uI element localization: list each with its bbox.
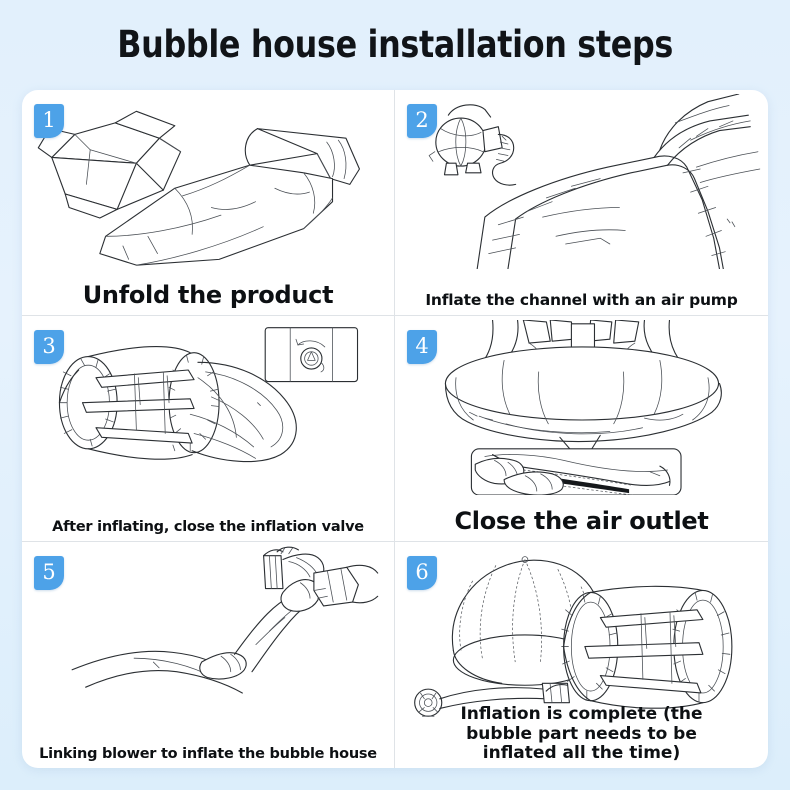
step-cell-4: 4 xyxy=(395,316,768,542)
step-caption-4: Close the air outlet xyxy=(401,508,762,535)
step-cell-1: 1 xyxy=(22,90,395,316)
blower-sleeve-and-hand-icon xyxy=(72,547,378,693)
steps-card: 1 xyxy=(22,90,768,768)
step-number-1: 1 xyxy=(42,110,55,133)
step-illustration-2 xyxy=(395,94,768,269)
steps-grid: 1 xyxy=(22,90,768,768)
step-cell-6: 6 xyxy=(395,542,768,768)
step-badge-6: 6 xyxy=(407,556,437,590)
step-caption-2: Inflate the channel with an air pump xyxy=(401,292,762,309)
step-badge-2: 2 xyxy=(407,104,437,138)
title-bar: Bubble house installation steps xyxy=(0,0,790,88)
step-caption-6-line-1: Inflation is complete (the xyxy=(401,705,762,725)
step-caption-3: After inflating, close the inflation val… xyxy=(28,519,388,535)
step-caption-5: Linking blower to inflate the bubble hou… xyxy=(28,746,388,762)
step-illustration-1 xyxy=(22,94,394,269)
step-badge-5: 5 xyxy=(34,556,64,590)
tunnel-frame-icon xyxy=(562,586,732,708)
inflatable-channel-icon xyxy=(477,94,760,269)
step-number-2: 2 xyxy=(415,110,428,133)
step-caption-1: Unfold the product xyxy=(28,282,388,309)
step-caption-6: Inflation is complete (the bubble part n… xyxy=(401,705,762,764)
step-cell-2: 2 xyxy=(395,90,768,316)
step-cell-3: 3 xyxy=(22,316,395,542)
step-badge-1: 1 xyxy=(34,104,64,138)
page-title: Bubble house installation steps xyxy=(117,23,673,66)
step-number-3: 3 xyxy=(42,336,55,359)
bubble-house-base-icon xyxy=(445,320,721,451)
step-illustration-3 xyxy=(22,320,394,495)
step-number-5: 5 xyxy=(42,562,55,585)
inflation-valve-detail-inset xyxy=(265,328,357,382)
step-illustration-5 xyxy=(22,546,394,722)
step-illustration-4 xyxy=(395,320,768,495)
air-outlet-closeup-inset xyxy=(471,449,681,495)
step-cell-5: 5 xyxy=(22,542,395,768)
inflated-tunnel-frame-icon xyxy=(59,347,296,462)
step-badge-3: 3 xyxy=(34,330,64,364)
step-number-6: 6 xyxy=(415,562,428,585)
step-caption-6-line-2: bubble part needs to be xyxy=(401,725,762,745)
step-number-4: 4 xyxy=(415,336,428,359)
step-caption-6-line-3: inflated all the time) xyxy=(401,744,762,764)
air-pump-icon xyxy=(429,105,516,185)
infographic-page: Bubble house installation steps 1 xyxy=(0,0,790,790)
step-badge-4: 4 xyxy=(407,330,437,364)
step-illustration-6 xyxy=(395,546,768,722)
